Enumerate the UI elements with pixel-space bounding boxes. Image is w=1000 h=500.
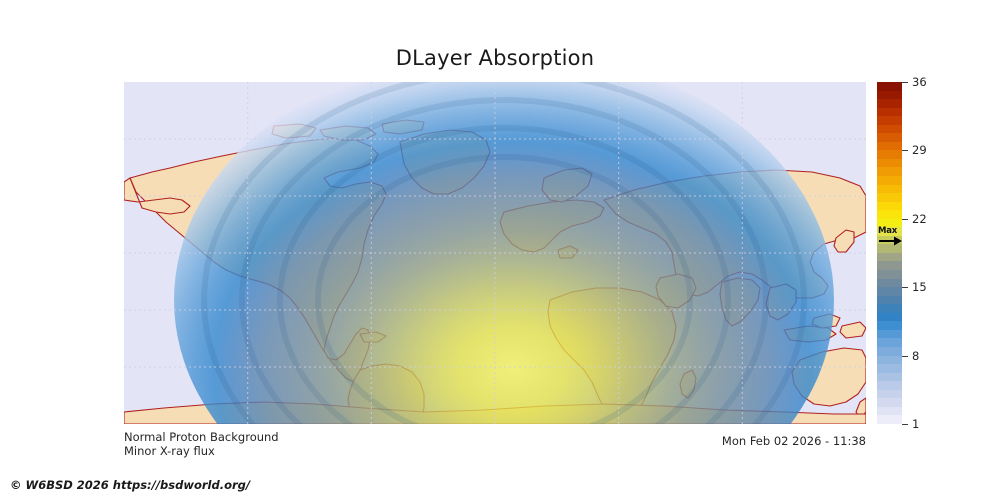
timestamp-label: Mon Feb 02 2026 - 11:38 (722, 434, 866, 448)
status-note-xray: Minor X-ray flux (124, 444, 215, 458)
status-note-proton: Normal Proton Background (124, 430, 279, 444)
colorbar-band (877, 321, 902, 330)
colorbar-tick-label: 15 (912, 280, 927, 294)
colorbar-band (877, 150, 902, 159)
colorbar-band (877, 287, 902, 296)
colorbar-band (877, 296, 902, 305)
colorbar-band (877, 364, 902, 373)
colorbar-band (877, 330, 902, 339)
colorbar-band (877, 253, 902, 262)
colorbar-tick (902, 219, 908, 220)
colorbar-band (877, 108, 902, 117)
colorbar-band (877, 99, 902, 108)
colorbar-band (877, 381, 902, 390)
colorbar-tick-label: 29 (912, 143, 927, 157)
colorbar-band (877, 142, 902, 151)
figure-canvas: DLayer Absorption (0, 0, 1000, 500)
colorbar-tick (902, 356, 908, 357)
colorbar-tick (902, 287, 908, 288)
colorbar-axis-label: Affected Frequency (MHz) (936, 82, 1000, 424)
colorbar-tick-label: 8 (912, 349, 919, 363)
colorbar-band (877, 244, 902, 253)
page-title: DLayer Absorption (124, 46, 866, 70)
colorbar-band (877, 356, 902, 365)
colorbar-band (877, 313, 902, 322)
colorbar-band (877, 133, 902, 142)
colorbar-band (877, 279, 902, 288)
colorbar-band (877, 270, 902, 279)
colorbar-band (877, 202, 902, 211)
colorbar-tick (902, 150, 908, 151)
colorbar-gradient[interactable] (877, 82, 902, 424)
copyright-label: © W6BSD 2026 https://bsdworld.org/ (10, 478, 250, 492)
colorbar-tick-label: 22 (912, 212, 927, 226)
colorbar-band (877, 398, 902, 407)
colorbar-band (877, 236, 902, 245)
colorbar-band (877, 304, 902, 313)
colorbar-tick (902, 424, 908, 425)
colorbar-band (877, 167, 902, 176)
colorbar-band (877, 338, 902, 347)
colorbar-band (877, 373, 902, 382)
colorbar-band (877, 125, 902, 134)
colorbar-band (877, 210, 902, 219)
colorbar-band (877, 415, 902, 424)
colorbar-band (877, 159, 902, 168)
colorbar-band (877, 82, 902, 91)
colorbar[interactable]: Max 1815222936 Affected Frequency (MHz) (877, 82, 997, 424)
colorbar-band (877, 390, 902, 399)
colorbar-band (877, 185, 902, 194)
colorbar-tick-label: 36 (912, 75, 927, 89)
colorbar-band (877, 176, 902, 185)
colorbar-tick (902, 82, 908, 83)
colorbar-band (877, 219, 902, 228)
colorbar-band (877, 91, 902, 100)
world-absorption-map[interactable] (124, 82, 866, 424)
colorbar-band (877, 116, 902, 125)
colorbar-band (877, 227, 902, 236)
map-svg (124, 82, 866, 424)
colorbar-band (877, 347, 902, 356)
colorbar-tick-label: 1 (912, 417, 919, 431)
colorbar-band (877, 407, 902, 416)
colorbar-band (877, 193, 902, 202)
colorbar-band (877, 261, 902, 270)
